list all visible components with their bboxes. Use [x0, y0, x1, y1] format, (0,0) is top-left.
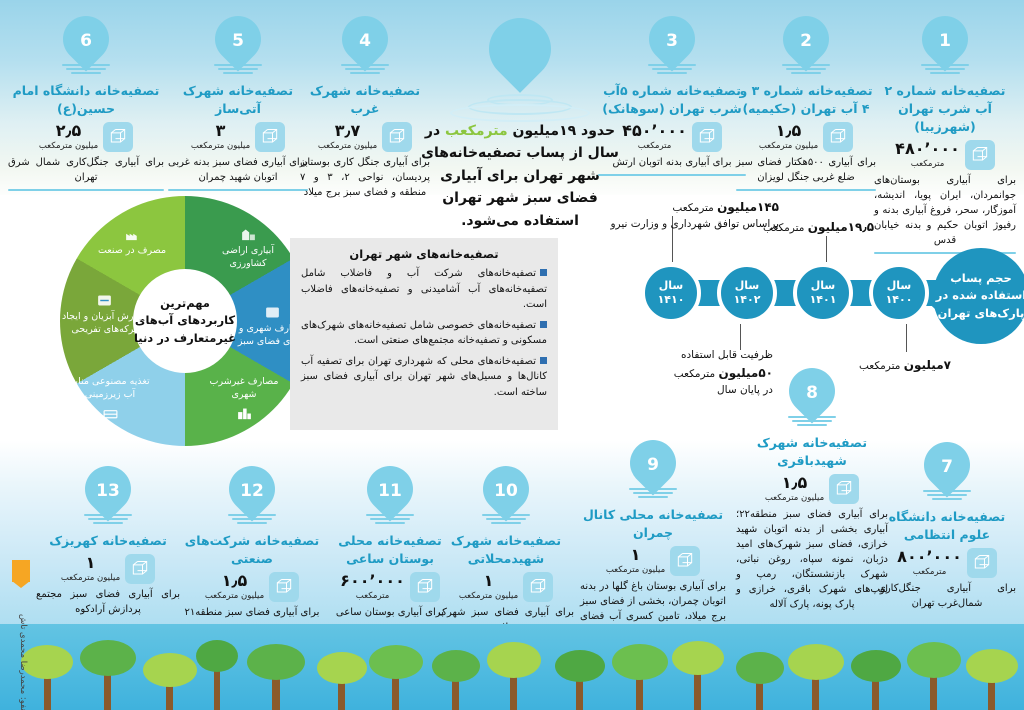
plant-number-12: 12 — [229, 466, 275, 512]
plant-amount-13: ۱ میلیون مترمکعب — [36, 554, 180, 584]
plant-unit-8: میلیون مترمکعب — [765, 493, 824, 503]
credit-marker-icon — [12, 560, 30, 582]
cube-icon — [823, 122, 853, 152]
headline-unit: مترمکعب — [445, 123, 508, 139]
drop-badge-13: 13 — [79, 466, 137, 528]
plant-number-2: 2 — [783, 16, 829, 62]
ripple-icon — [450, 94, 590, 116]
plant-value-5: ۳ — [191, 123, 250, 139]
divider-wave — [736, 189, 876, 191]
info-panel-item-2: تصفیه‌خانه‌های محلی که شهرداری تهران برا… — [301, 354, 547, 401]
info-panel-item-0: تصفیه‌خانه‌های شرکت آب و فاضلاب شامل تصف… — [301, 266, 547, 313]
divider-wave — [598, 174, 746, 176]
plant-number-5: 5 — [215, 16, 261, 62]
plant-card-7: 7 تصفیه‌خانه دانشگاه علوم انتظامی ۸۰۰٬۰۰… — [878, 434, 1016, 611]
drop-badge-8: 8 — [783, 368, 841, 430]
divider-wave — [168, 189, 308, 191]
pie-slice-label-2: مصارف غیرشرب شهری — [198, 376, 290, 424]
groundwater-icon — [102, 405, 119, 422]
plant-title-5: تصفیه‌خانه شهرک آتی‌ساز — [168, 82, 308, 118]
plant-value-3: ۴۵۰٬۰۰۰ — [622, 123, 687, 139]
cube-icon — [382, 122, 412, 152]
plant-title-6: تصفیه‌خانه دانشگاه امام حسین(ع) — [8, 82, 164, 118]
leader-line — [740, 324, 741, 350]
timeline-note-1401: ۱۹٫۵میلیون مترمکعب — [763, 218, 913, 237]
leader-line — [906, 324, 907, 352]
plant-number-11: 11 — [367, 466, 413, 512]
headline-text: حدود ۱۹میلیون مترمکعب در سال از پساب تصف… — [420, 120, 620, 232]
plant-amount-8: ۱٫۵ میلیون مترمکعب — [736, 474, 888, 504]
cube-icon — [670, 546, 700, 576]
cube-icon — [965, 140, 995, 170]
plant-value-11: ۶۰۰٬۰۰۰ — [340, 573, 405, 589]
plant-unit-12: میلیون مترمکعب — [205, 591, 264, 601]
cube-icon — [692, 122, 722, 152]
plant-title-9: تصفیه‌خانه محلی کانال چمران — [580, 506, 726, 542]
plant-number-7: 7 — [924, 442, 970, 488]
plant-card-6: 6 تصفیه‌خانه دانشگاه امام حسین(ع) ۲٫۵ می… — [8, 8, 164, 193]
plant-unit-4: میلیون مترمکعب — [318, 141, 377, 151]
fish-pond-icon — [96, 292, 113, 309]
big-water-drop-icon — [476, 5, 564, 93]
cube-icon — [103, 122, 133, 152]
pie-slices: مهم‌ترین کاربردهای آب‌های غیرمتعارف در د… — [60, 196, 310, 446]
drop-badge-6: 6 — [57, 16, 115, 78]
plant-number-3: 3 — [649, 16, 695, 62]
plant-number-6: 6 — [63, 16, 109, 62]
plant-unit-13: میلیون مترمکعب — [61, 573, 120, 583]
plant-title-12: تصفیه‌خانه شرکت‌های صنعتی — [184, 532, 320, 568]
plant-unit-9: میلیون مترمکعب — [606, 565, 665, 575]
plant-number-10: 10 — [483, 466, 529, 512]
plant-value-12: ۱٫۵ — [205, 573, 264, 589]
plant-unit-7: مترمکعب — [897, 567, 962, 577]
plant-value-10: ۱ — [459, 573, 518, 589]
plant-value-7: ۸۰۰٬۰۰۰ — [897, 549, 962, 565]
drop-badge-12: 12 — [223, 466, 281, 528]
bullet-icon — [540, 269, 547, 276]
plant-desc-5: برای آبیاری فضای سبز بدنه غربی اتوبان شه… — [168, 155, 308, 185]
plant-value-1: ۴۸۰٬۰۰۰ — [895, 141, 960, 157]
drop-badge-5: 5 — [209, 16, 267, 78]
infographic-canvas: 6 تصفیه‌خانه دانشگاه امام حسین(ع) ۲٫۵ می… — [0, 0, 1024, 710]
drop-badge-3: 3 — [643, 16, 701, 78]
drop-badge-9: 9 — [624, 440, 682, 502]
timeline-node-1410: سال۱۴۱۰ — [641, 263, 701, 323]
plant-title-8: تصفیه‌خانه شهرک شهیدباقری — [736, 434, 888, 470]
plant-card-5: 5 تصفیه‌خانه شهرک آتی‌ساز ۳ میلیون مترمک… — [168, 8, 308, 193]
cube-icon — [125, 554, 155, 584]
plant-value-9: ۱ — [606, 547, 665, 563]
plant-desc-3: برای آبیاری بدنه اتوبان ارتش — [598, 155, 746, 170]
headline-block: حدود ۱۹میلیون مترمکعب در سال از پساب تصف… — [420, 10, 620, 232]
plant-unit-2: میلیون مترمکعب — [759, 141, 818, 151]
leader-line — [826, 236, 827, 262]
timeline-node-1402: سال۱۴۰۲ — [717, 263, 777, 323]
plant-unit-5: میلیون مترمکعب — [191, 141, 250, 151]
tree-illustration — [0, 624, 1024, 710]
plant-amount-10: ۱ میلیون مترمکعب — [438, 572, 574, 602]
plant-desc-6: برای آبیاری جنگل‌کاری شمال شرق تهران — [8, 155, 164, 185]
drop-badge-7: 7 — [918, 442, 976, 504]
plant-desc-13: برای آبیاری فضای سبز مجتمع پردازش آرادکو… — [36, 587, 180, 617]
plant-card-12: 12 تصفیه‌خانه شرکت‌های صنعتی ۱٫۵ میلیون … — [184, 458, 320, 620]
info-panel-title: تصفیه‌خانه‌های شهر تهران — [301, 247, 547, 261]
plant-amount-7: ۸۰۰٬۰۰۰ مترمکعب — [878, 548, 1016, 578]
pie-slice-label-0: آبیاری اراضی کشاورزی — [202, 226, 294, 271]
drop-badge-4: 4 — [336, 16, 394, 78]
plant-amount-9: ۱ میلیون مترمکعب — [580, 546, 726, 576]
plant-value-6: ۲٫۵ — [39, 123, 98, 139]
plant-title-1: تصفیه‌خانه شماره ۲ آب شرب تهران (شهرزیبا… — [874, 82, 1016, 136]
plant-amount-2: ۱٫۵ میلیون مترمکعب — [736, 122, 876, 152]
plant-card-13: 13 تصفیه‌خانه کهریزک ۱ میلیون مترمکعب بر… — [36, 458, 180, 617]
plant-amount-12: ۱٫۵ میلیون مترمکعب — [184, 572, 320, 602]
plant-card-4: 4 تصفیه‌خانه شهرک غرب ۳٫۷ میلیون مترمکعب… — [300, 8, 430, 200]
farm-icon — [240, 226, 257, 243]
plant-unit-3: مترمکعب — [622, 141, 687, 151]
timeline-note-1410: ۱۴۵میلیون مترمکعب براساس توافق شهرداری و… — [599, 198, 779, 233]
timeline-tag: حجم پساب استفاده شده در پارک‌های تهران — [933, 248, 1024, 344]
cube-icon — [255, 122, 285, 152]
plant-title-4: تصفیه‌خانه شهرک غرب — [300, 82, 430, 118]
plant-card-10: 10 تصفیه‌خانه شهرک شهیدمحلاتی ۱ میلیون م… — [438, 458, 574, 635]
park-icon — [264, 304, 281, 321]
plant-desc-7: برای آبیاری جنگل‌کاری شمال‌غرب تهران — [878, 581, 1016, 611]
plant-number-8: 8 — [789, 368, 835, 414]
plant-title-2: تصفیه‌خانه شماره ۳ و ۴ آب تهران (حکیمیه) — [736, 82, 876, 118]
cube-icon — [829, 474, 859, 504]
plant-amount-6: ۲٫۵ میلیون مترمکعب — [8, 122, 164, 152]
bullet-icon — [540, 321, 547, 328]
plant-title-13: تصفیه‌خانه کهریزک — [36, 532, 180, 550]
plant-unit-6: میلیون مترمکعب — [39, 141, 98, 151]
plant-value-2: ۱٫۵ — [759, 123, 818, 139]
info-panel: تصفیه‌خانه‌های شهر تهران تصفیه‌خانه‌های … — [290, 238, 558, 430]
plant-unit-1: مترمکعب — [895, 159, 960, 169]
credit-text: اینفو: محمدرضا محمدی تاش — [10, 586, 28, 710]
plant-number-13: 13 — [85, 466, 131, 512]
cube-icon — [523, 572, 553, 602]
drop-badge-10: 10 — [477, 466, 535, 528]
city-icon — [236, 405, 253, 422]
pie-slice-label-5: مصرف در صنعت — [86, 226, 178, 258]
drop-badge-2: 2 — [777, 16, 835, 78]
plant-unit-11: مترمکعب — [340, 591, 405, 601]
plant-amount-5: ۳ میلیون مترمکعب — [168, 122, 308, 152]
pie-slice-label-1: پرورش آبزیان و ایجاد برکه‌های تفریحی — [58, 292, 150, 337]
cube-icon — [269, 572, 299, 602]
plant-card-8: 8 تصفیه‌خانه شهرک شهیدباقری ۱٫۵ میلیون م… — [736, 360, 888, 612]
pie-chart: مهم‌ترین کاربردهای آب‌های غیرمتعارف در د… — [60, 196, 310, 446]
timeline-node-1401: سال۱۴۰۱ — [793, 263, 853, 323]
factory-icon — [124, 226, 141, 243]
plant-title-10: تصفیه‌خانه شهرک شهیدمحلاتی — [438, 532, 574, 568]
plant-number-4: 4 — [342, 16, 388, 62]
plant-desc-4: برای آبیاری جنگل کاری بوستان پردیسان، نو… — [300, 155, 430, 200]
cube-icon — [410, 572, 440, 602]
plant-amount-1: ۴۸۰٬۰۰۰ مترمکعب — [874, 140, 1016, 170]
plant-title-7: تصفیه‌خانه دانشگاه علوم انتظامی — [878, 508, 1016, 544]
plant-value-13: ۱ — [61, 555, 120, 571]
plant-desc-2: برای آبیاری ۵۰۰هکتار فضای سبز ضلع غربی ج… — [736, 155, 876, 185]
plant-card-9: 9 تصفیه‌خانه محلی کانال چمران ۱ میلیون م… — [580, 432, 726, 639]
drop-badge-1: 1 — [916, 16, 974, 78]
divider-wave — [8, 189, 164, 191]
plant-amount-3: ۴۵۰٬۰۰۰ مترمکعب — [598, 122, 746, 152]
plant-card-2: 2 تصفیه‌خانه شماره ۳ و ۴ آب تهران (حکیمی… — [736, 8, 876, 193]
drop-badge-11: 11 — [361, 466, 419, 528]
pie-slice-label-3: تغذیه مصنوعی منابع آب زیرزمینی — [64, 376, 156, 424]
timeline-node-1400: سال۱۴۰۰ — [869, 263, 929, 323]
tree-band — [0, 624, 1024, 710]
plant-amount-4: ۳٫۷ میلیون مترمکعب — [300, 122, 430, 152]
plant-desc-12: برای آبیاری فضای سبز منطقه۲۱ — [184, 605, 320, 620]
plant-unit-10: میلیون مترمکعب — [459, 591, 518, 601]
plant-number-9: 9 — [630, 440, 676, 486]
plant-number-1: 1 — [922, 16, 968, 62]
plant-value-4: ۳٫۷ — [318, 123, 377, 139]
plant-card-3: 3 تصفیه‌خانه شماره ۵آب شرب تهران (سوهانک… — [598, 8, 746, 178]
info-panel-item-1: تصفیه‌خانه‌های خصوصی شامل تصفیه‌خانه‌های… — [301, 318, 547, 349]
plant-value-8: ۱٫۵ — [765, 475, 824, 491]
cube-icon — [967, 548, 997, 578]
plant-title-3: تصفیه‌خانه شماره ۵آب شرب تهران (سوهانک) — [598, 82, 746, 118]
plant-desc-8: برای آبیاری فضای سبز منطقه۲۲؛ آبیاری بخش… — [736, 507, 888, 612]
bullet-icon — [540, 357, 547, 364]
